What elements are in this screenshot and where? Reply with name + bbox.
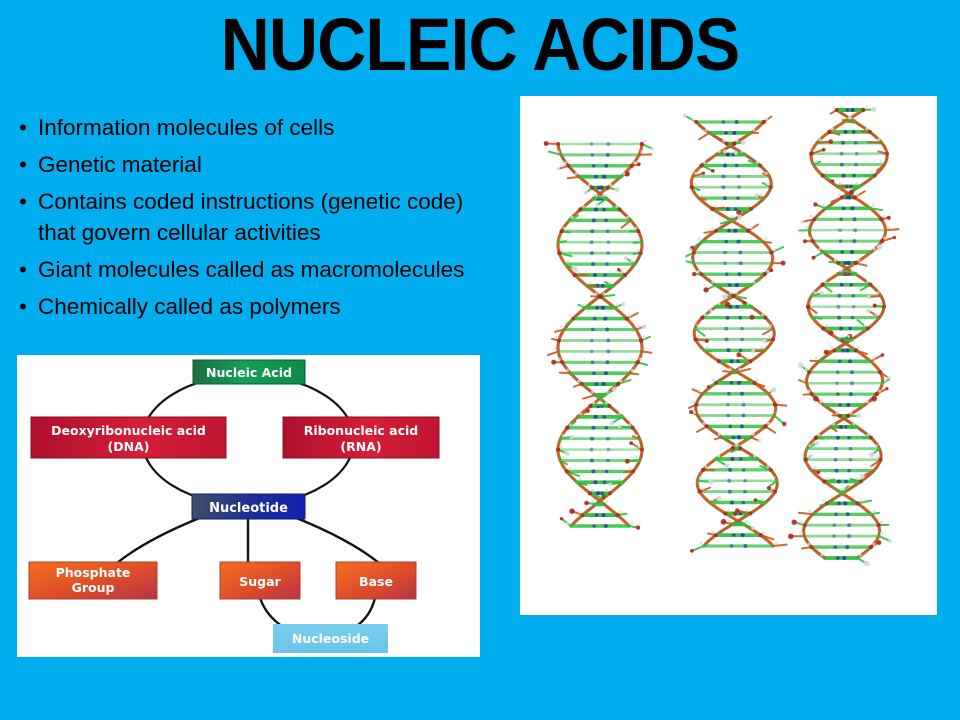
bullet-marker-icon: • bbox=[8, 254, 38, 285]
list-item: • Chemically called as polymers bbox=[8, 291, 520, 322]
bullet-marker-icon: • bbox=[8, 291, 38, 322]
diagram-node-dna[interactable]: Deoxyribonucleic acid (DNA) bbox=[31, 417, 226, 458]
diagram-node-rna-sublabel: (RNA) bbox=[340, 439, 381, 454]
connector-nucleotide-to-phosphate bbox=[117, 517, 202, 563]
diagram-node-dna-label: Deoxyribonucleic acid bbox=[51, 423, 206, 438]
page-title: NUCLEIC ACIDS bbox=[38, 2, 921, 88]
list-item-label: Genetic material bbox=[38, 149, 520, 180]
bullet-list: • Information molecules of cells • Genet… bbox=[8, 112, 520, 328]
diagram-node-base-label: Base bbox=[359, 574, 393, 589]
list-item-line-2: that govern cellular activities bbox=[38, 217, 520, 248]
diagram-node-dna-sublabel: (DNA) bbox=[108, 439, 150, 454]
diagram-node-nucleotide-label: Nucleotide bbox=[209, 501, 288, 516]
list-item: • Information molecules of cells bbox=[8, 112, 520, 143]
list-item-label: Contains coded instructions (genetic cod… bbox=[38, 186, 520, 248]
bullet-marker-icon: • bbox=[8, 186, 38, 217]
dna-helix-image bbox=[520, 96, 937, 615]
diagram-node-sugar-label: Sugar bbox=[239, 574, 281, 589]
diagram-node-nucleoside[interactable]: Nucleoside bbox=[273, 624, 388, 653]
list-item-label: Chemically called as polymers bbox=[38, 291, 520, 322]
diagram-node-phosphate-group[interactable]: Phosphate Group bbox=[29, 562, 157, 599]
slide-canvas: NUCLEIC ACIDS • Information molecules of… bbox=[0, 0, 960, 720]
diagram-node-base[interactable]: Base bbox=[336, 562, 416, 599]
diagram-node-phosphate-group-label: Phosphate bbox=[56, 565, 131, 580]
list-item: • Giant molecules called as macromolecul… bbox=[8, 254, 520, 285]
list-item-label: Information molecules of cells bbox=[38, 112, 520, 143]
list-item-line-1: Contains coded instructions (genetic cod… bbox=[38, 186, 520, 217]
diagram-node-phosphate-group-sublabel: Group bbox=[72, 580, 115, 595]
diagram-node-nucleotide[interactable]: Nucleotide bbox=[192, 494, 305, 519]
dna-helix-illustration bbox=[520, 96, 937, 615]
diagram-node-nucleic-acid-label: Nucleic Acid bbox=[206, 365, 292, 380]
bullet-marker-icon: • bbox=[8, 112, 38, 143]
diagram-node-rna[interactable]: Ribonucleic acid (RNA) bbox=[283, 417, 439, 458]
diagram-node-rna-label: Ribonucleic acid bbox=[304, 423, 419, 438]
flow-diagram-canvas: Nucleic Acid Deoxyribonucleic acid (DNA)… bbox=[17, 355, 480, 657]
list-item: • Contains coded instructions (genetic c… bbox=[8, 186, 520, 248]
nucleic-acid-flow-diagram: Nucleic Acid Deoxyribonucleic acid (DNA)… bbox=[17, 355, 480, 657]
list-item: • Genetic material bbox=[8, 149, 520, 180]
diagram-node-nucleoside-label: Nucleoside bbox=[292, 631, 369, 646]
connector-nucleotide-to-base bbox=[294, 517, 379, 563]
list-item-label: Giant molecules called as macromolecules bbox=[38, 254, 520, 285]
bullet-marker-icon: • bbox=[8, 149, 38, 180]
diagram-node-nucleic-acid[interactable]: Nucleic Acid bbox=[193, 360, 305, 384]
diagram-node-sugar[interactable]: Sugar bbox=[220, 562, 300, 599]
